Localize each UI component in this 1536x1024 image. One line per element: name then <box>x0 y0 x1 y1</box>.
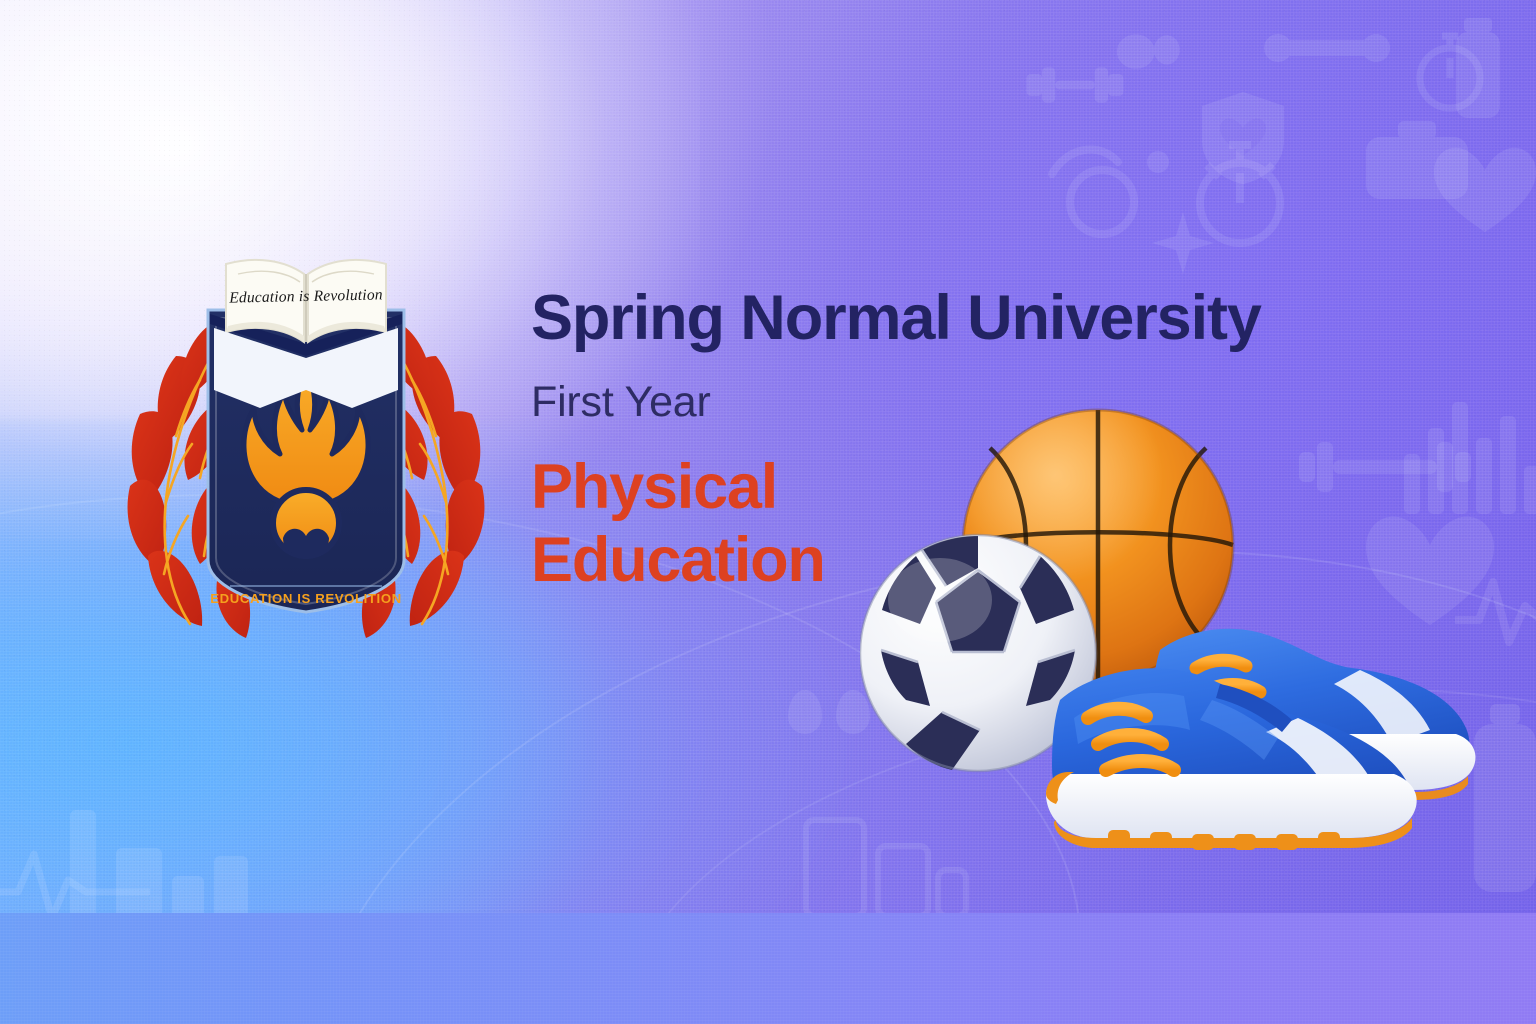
crest-banner-motto: EDUCATION IS REVOLITION <box>210 591 402 606</box>
crest-flame-base <box>273 490 339 556</box>
page-title: Spring Normal University <box>531 283 1261 353</box>
university-crest-logo: Education is Revolution EDUCATION IS REV… <box>104 238 508 642</box>
crest-book-motto: Education is Revolution <box>229 286 383 307</box>
sports-equipment-illustration <box>860 400 1530 850</box>
bottom-band-texture <box>0 913 1536 1024</box>
poster-canvas: Education is Revolution EDUCATION IS REV… <box>0 0 1536 1024</box>
sports-artwork <box>860 400 1530 850</box>
bottom-band <box>0 913 1536 1024</box>
